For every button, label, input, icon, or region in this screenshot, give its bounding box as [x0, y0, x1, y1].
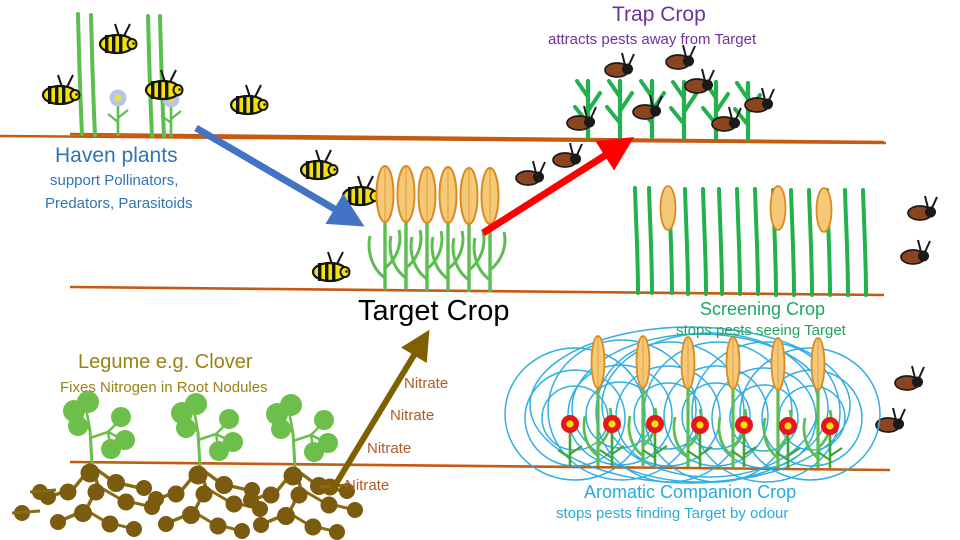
- pest: [605, 53, 634, 77]
- pest: [633, 95, 662, 119]
- pest: [666, 45, 695, 69]
- screening-ear: [771, 186, 786, 230]
- haven-title: Haven plants: [55, 144, 178, 168]
- haven-subtitle-line2: Predators, Parasitoids: [45, 195, 193, 212]
- aromatic-crop-subtitle: stops pests finding Target by odour: [556, 505, 788, 522]
- trap-crop-group: [516, 45, 774, 185]
- trap-crop-subtitle: attracts pests away from Target: [548, 31, 756, 48]
- aromatic-crop-title: Aromatic Companion Crop: [584, 482, 796, 503]
- screening-crop-subtitle: stops pests seeing Target: [676, 322, 846, 339]
- diagram-canvas: Haven plants support Pollinators, Predat…: [0, 0, 960, 540]
- pest: [685, 69, 714, 93]
- nitrate-label: Nitrate: [404, 375, 448, 392]
- haven-subtitle-line1: support Pollinators,: [50, 172, 178, 189]
- diagram-artwork: [0, 0, 960, 540]
- pest: [553, 143, 582, 167]
- screening-crop-title: Screening Crop: [700, 299, 825, 320]
- pest: [516, 161, 545, 185]
- bee: [43, 75, 80, 104]
- bee: [313, 252, 350, 281]
- nitrate-label: Nitrate: [390, 407, 434, 424]
- nitrate-label: Nitrate: [367, 440, 411, 457]
- legume-title: Legume e.g. Clover: [78, 351, 253, 374]
- ground-line-middle: [70, 287, 884, 295]
- pest: [908, 196, 937, 220]
- screening-ear: [661, 186, 676, 230]
- target-to-trap-arrow: [483, 146, 620, 233]
- legume-subtitle: Fixes Nitrogen in Root Nodules: [60, 379, 268, 396]
- haven-flower: [108, 90, 128, 137]
- bee: [343, 176, 380, 205]
- pest: [901, 240, 930, 264]
- bee: [231, 85, 268, 114]
- bee: [301, 150, 338, 179]
- target-crop-title: Target Crop: [358, 295, 510, 328]
- screening-ear: [817, 188, 832, 232]
- aromatic-flower: [558, 415, 582, 466]
- nitrate-label: Nitrate: [345, 477, 389, 494]
- bee: [100, 24, 137, 53]
- clover-plant: [148, 393, 268, 539]
- pest: [895, 366, 924, 390]
- pest: [567, 106, 596, 130]
- screening-crop-group: [635, 186, 866, 295]
- trap-crop-title: Trap Crop: [612, 3, 706, 27]
- roaming-pests-group: [876, 196, 937, 432]
- aromatic-crop-group: [505, 327, 880, 483]
